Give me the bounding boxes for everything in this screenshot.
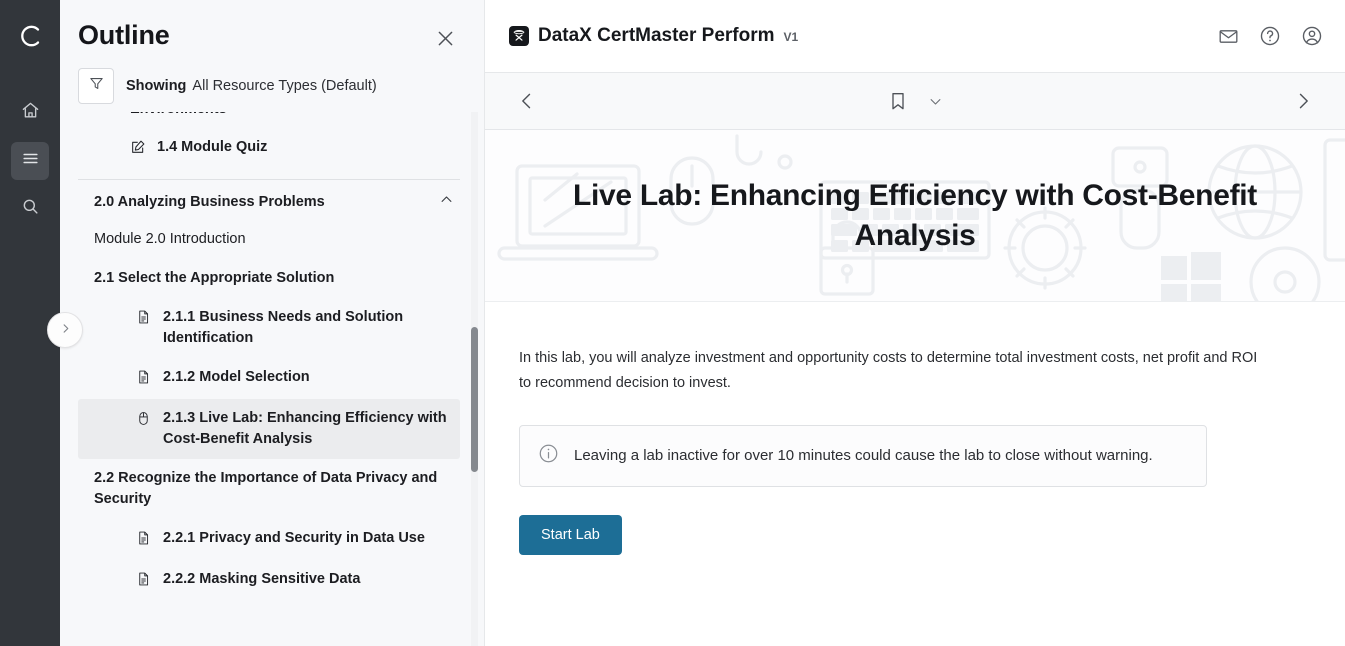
c-logo-icon[interactable]	[10, 16, 50, 56]
chevron-down-icon[interactable]	[928, 94, 943, 109]
main-content: DataX CertMaster Perform V1	[485, 0, 1345, 646]
account-circle-icon[interactable]	[1301, 25, 1323, 47]
outline-group-label: 2.0 Analyzing Business Problems	[94, 194, 325, 210]
outline-title: Outline	[78, 20, 170, 51]
brand-name: DataX CertMaster Perform	[538, 25, 775, 47]
outline-item-2-1-3[interactable]: 2.1.3 Live Lab: Enhancing Efficiency wit…	[78, 399, 460, 459]
outline-scroll-area: Environments 1.4 Module Quiz 2.0 Analyzi…	[60, 112, 484, 646]
help-circle-icon[interactable]	[1259, 25, 1281, 47]
lesson-body: In this lab, you will analyze investment…	[485, 302, 1345, 555]
outline-item-quiz[interactable]: 1.4 Module Quiz	[78, 128, 460, 169]
filter-showing-label: ShowingAll Resource Types (Default)	[126, 77, 377, 95]
bookmark-icon[interactable]	[888, 90, 908, 112]
mail-icon[interactable]	[1218, 26, 1239, 47]
lesson-description: In this lab, you will analyze investment…	[519, 346, 1264, 397]
outline-item-label: 1.4 Module Quiz	[157, 137, 267, 158]
brand-version: V1	[784, 30, 799, 44]
lesson-navbar	[485, 73, 1345, 130]
outline-item-2-1-1[interactable]: 2.1.1 Business Needs and Solution Identi…	[78, 298, 460, 358]
close-icon	[435, 28, 456, 54]
filter-button[interactable]	[78, 68, 114, 104]
rail-item-outline[interactable]	[11, 142, 49, 180]
outline-item-2-2[interactable]: 2.2 Recognize the Importance of Data Pri…	[78, 459, 460, 519]
rail-item-search[interactable]	[11, 190, 49, 228]
inactivity-notice-text: Leaving a lab inactive for over 10 minut…	[574, 447, 1153, 464]
outline-group-2-0[interactable]: 2.0 Analyzing Business Problems	[78, 184, 460, 220]
outline-clipped-item[interactable]: Environments	[78, 112, 460, 126]
document-icon	[136, 309, 154, 330]
filter-icon	[88, 75, 105, 97]
brand: DataX CertMaster Perform V1	[509, 25, 798, 47]
filter-showing-value: All Resource Types (Default)	[192, 78, 376, 94]
search-icon	[21, 197, 40, 221]
outline-header: Outline	[60, 0, 484, 56]
menu-icon	[21, 149, 40, 173]
header-actions	[1218, 25, 1323, 47]
expand-panel-handle[interactable]	[47, 312, 83, 348]
previous-page-button[interactable]	[517, 91, 537, 111]
outline-item-2-1[interactable]: 2.1 Select the Appropriate Solution	[78, 259, 460, 298]
rail-item-home[interactable]	[11, 94, 49, 132]
outline-item-2-2-2[interactable]: 2.2.2 Masking Sensitive Data	[78, 560, 460, 601]
filter-row: ShowingAll Resource Types (Default)	[60, 56, 484, 104]
app-root: Outline ShowingAll Resource Types (Defau	[0, 0, 1345, 646]
outline-divider	[78, 179, 460, 180]
lesson-banner: Live Lab: Enhancing Efficiency with Cost…	[485, 130, 1345, 302]
document-icon	[136, 530, 154, 551]
mouse-icon	[136, 410, 154, 432]
outline-scrollbar-thumb[interactable]	[471, 327, 478, 472]
home-icon	[21, 101, 40, 125]
start-lab-button[interactable]: Start Lab	[519, 515, 622, 555]
chevron-right-icon	[60, 321, 71, 339]
chevron-up-icon	[439, 192, 454, 212]
app-header: DataX CertMaster Perform V1	[485, 0, 1345, 73]
datax-logo-icon	[509, 26, 529, 46]
page-title: Live Lab: Enhancing Efficiency with Cost…	[520, 176, 1310, 255]
document-icon	[136, 369, 154, 390]
outline-item-module-intro[interactable]: Module 2.0 Introduction	[78, 220, 460, 259]
outline-list: Environments 1.4 Module Quiz 2.0 Analyzi…	[60, 112, 484, 601]
document-icon	[136, 571, 154, 592]
bookmark-controls	[485, 90, 1345, 112]
outline-panel: Outline ShowingAll Resource Types (Defau	[60, 0, 485, 646]
info-icon	[538, 443, 559, 469]
quiz-icon	[130, 139, 148, 160]
next-page-button[interactable]	[1293, 91, 1313, 111]
outline-item-2-2-1[interactable]: 2.2.1 Privacy and Security in Data Use	[78, 519, 460, 560]
close-outline-button[interactable]	[430, 26, 460, 56]
inactivity-notice: Leaving a lab inactive for over 10 minut…	[519, 425, 1207, 487]
outline-item-2-1-2[interactable]: 2.1.2 Model Selection	[78, 358, 460, 399]
outline-scrollbar[interactable]	[471, 112, 478, 646]
